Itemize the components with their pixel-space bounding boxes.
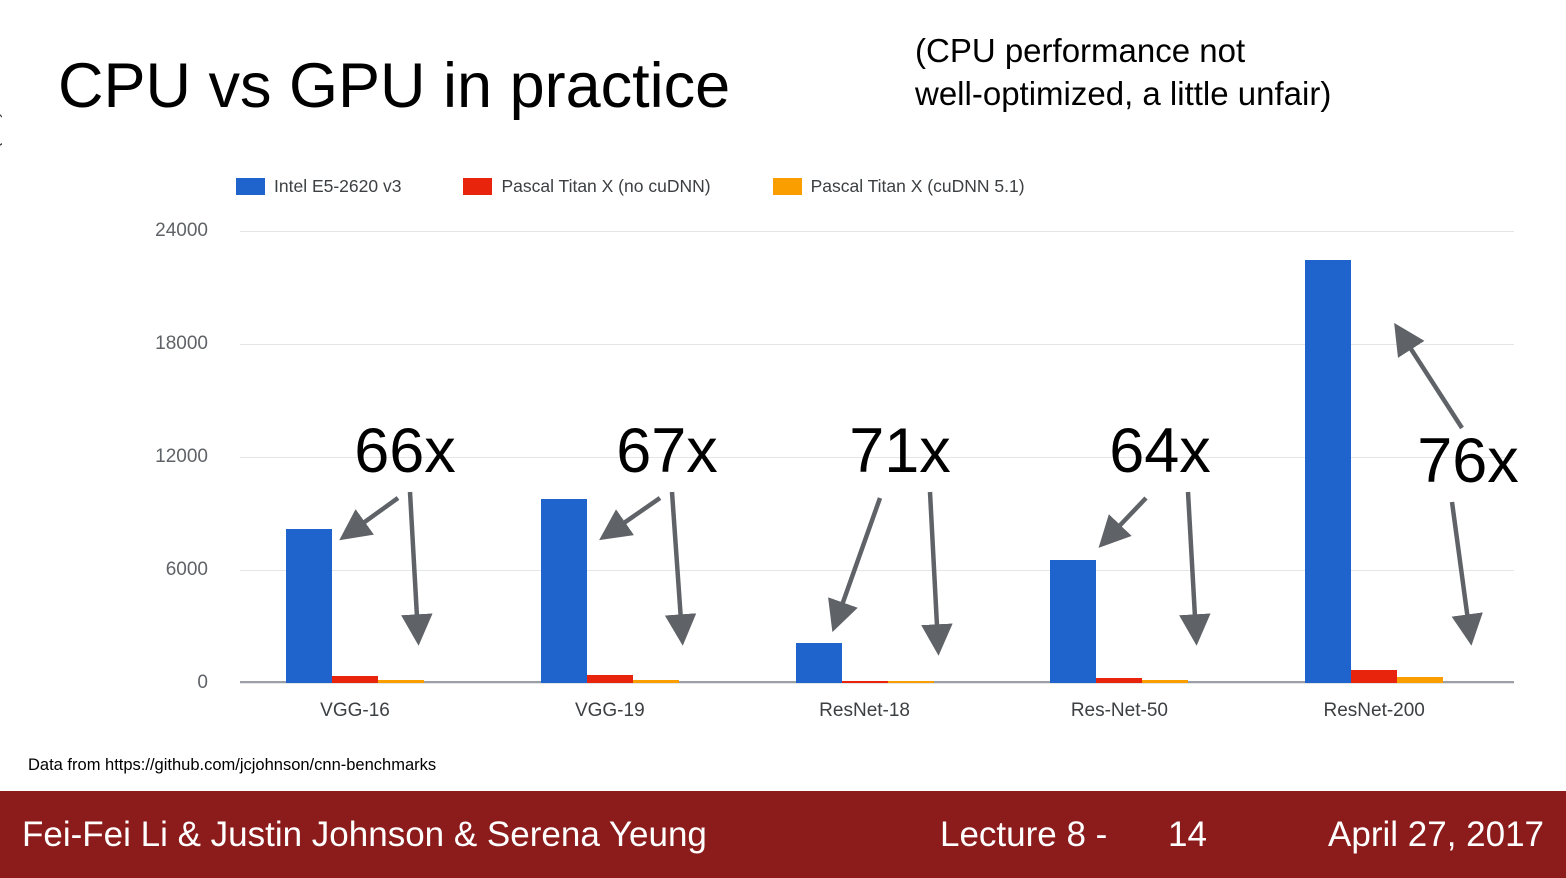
y-axis-ticks: 06000120001800024000 (0, 0, 226, 878)
bar-cpu (796, 643, 842, 683)
legend-item-gpu-cudnn: Pascal Titan X (cuDNN 5.1) (773, 176, 1025, 197)
x-tick-label: ResNet-200 (1323, 700, 1424, 722)
bar-gpu-nocudnn (1351, 670, 1397, 683)
bar-cpu (1050, 560, 1096, 683)
chart-legend: Intel E5-2620 v3 Pascal Titan X (no cuDN… (236, 176, 1087, 197)
slide-root: CPU vs GPU in practice (CPU performance … (0, 0, 1566, 878)
gridline (240, 231, 1514, 232)
bar-gpu-nocudnn (1096, 678, 1142, 683)
speedup-label: 67x (616, 415, 718, 487)
bar-gpu-cudnn (1397, 677, 1443, 683)
speedup-label: 71x (849, 415, 951, 487)
footer-date: April 27, 2017 (1328, 815, 1544, 855)
bar-gpu-cudnn (633, 680, 679, 683)
bar-gpu-cudnn (378, 680, 424, 683)
legend-swatch-icon-gpu-cudnn (773, 178, 802, 195)
slide-footer: Fei-Fei Li & Justin Johnson & Serena Yeu… (0, 791, 1566, 878)
legend-swatch-icon-cpu (236, 178, 265, 195)
legend-label-cpu: Intel E5-2620 v3 (274, 176, 401, 197)
x-tick-label: VGG-19 (575, 700, 645, 722)
bar-gpu-nocudnn (842, 681, 888, 683)
y-tick-label: 6000 (166, 559, 208, 581)
caveat-line-1: (CPU performance not (915, 30, 1475, 73)
speedup-label: 64x (1109, 415, 1211, 487)
bar-cpu (286, 529, 332, 683)
speedup-label: 66x (354, 415, 456, 487)
legend-item-cpu: Intel E5-2620 v3 (236, 176, 401, 197)
x-tick-label: ResNet-18 (819, 700, 910, 722)
footer-page-number: 14 (1168, 815, 1207, 855)
legend-item-gpu-nocudnn: Pascal Titan X (no cuDNN) (463, 176, 710, 197)
legend-label-gpu-cudnn: Pascal Titan X (cuDNN 5.1) (811, 176, 1025, 197)
x-tick-label: VGG-16 (320, 700, 390, 722)
footer-authors: Fei-Fei Li & Justin Johnson & Serena Yeu… (22, 815, 707, 855)
bar-gpu-cudnn (1142, 680, 1188, 683)
speedup-label: 76x (1417, 425, 1519, 497)
y-tick-label: 12000 (155, 446, 208, 468)
bar-cpu (1305, 260, 1351, 683)
bar-gpu-cudnn (888, 681, 934, 683)
legend-swatch-icon-gpu-nocudnn (463, 178, 492, 195)
bar-gpu-nocudnn (587, 675, 633, 683)
y-tick-label: 18000 (155, 333, 208, 355)
bar-gpu-nocudnn (332, 676, 378, 683)
gridline (240, 683, 1514, 684)
caveat-line-2: well-optimized, a little unfair) (915, 73, 1475, 116)
x-tick-label: Res-Net-50 (1071, 700, 1168, 722)
legend-label-gpu-nocudnn: Pascal Titan X (no cuDNN) (501, 176, 710, 197)
y-tick-label: 24000 (155, 220, 208, 242)
y-tick-label: 0 (197, 672, 208, 694)
data-source-note: Data from https://github.com/jcjohnson/c… (28, 756, 436, 775)
footer-lecture-label: Lecture 8 - (940, 815, 1107, 855)
bar-cpu (541, 499, 587, 683)
caveat-note: (CPU performance not well-optimized, a l… (915, 30, 1475, 116)
